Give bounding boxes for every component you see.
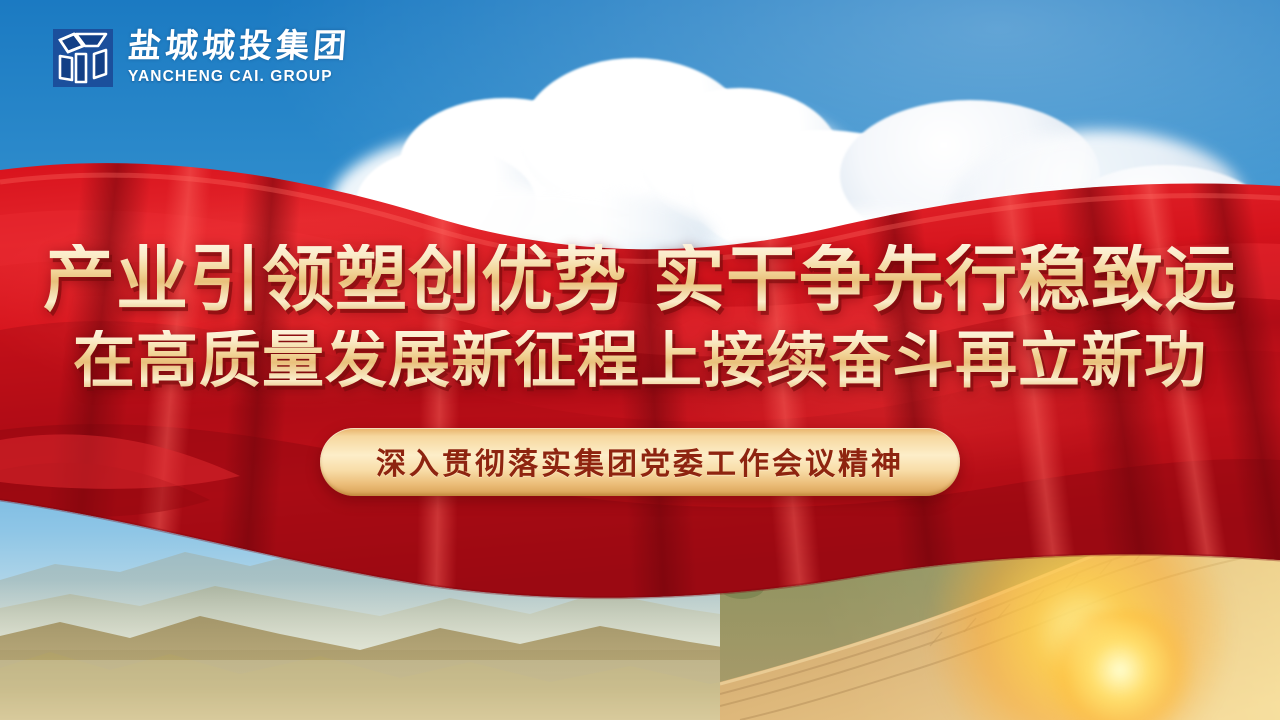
- logo-company-name-en: YANCHENG CAI. GROUP: [128, 69, 350, 85]
- subtitle-pill-label: 深入贯彻落实集团党委工作会议精神: [376, 439, 904, 483]
- cube-logo-icon: [52, 28, 114, 88]
- logo-company-name-cn: 盐城城投集团: [127, 31, 351, 64]
- company-logo[interactable]: 盐城城投集团 YANCHENG CAI. GROUP: [52, 28, 350, 88]
- subtitle-pill[interactable]: 深入贯彻落实集团党委工作会议精神: [320, 428, 960, 496]
- promotional-banner: 盐城城投集团 YANCHENG CAI. GROUP 产业引领塑创优势实干争先行…: [0, 0, 1280, 720]
